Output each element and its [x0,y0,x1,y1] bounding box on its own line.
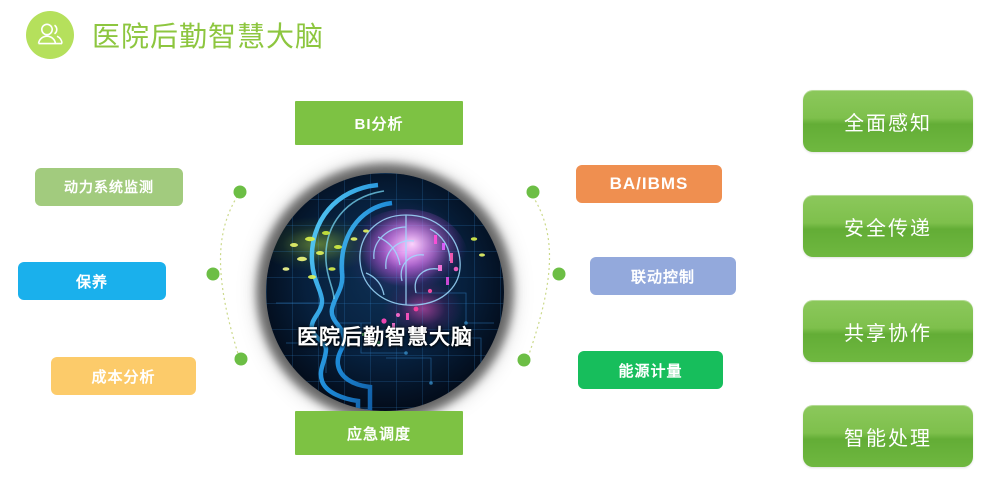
arc-dot-left-mid [207,268,220,281]
brain-head-illustration [266,173,504,411]
tag-bi-analysis[interactable]: BI分析 [295,101,463,145]
central-brain-graphic: 医院后勤智慧大脑 [266,173,504,411]
brain-center-label: 医院后勤智慧大脑 [266,321,504,351]
users-icon [26,11,74,59]
tag-emergency-dispatch[interactable]: 应急调度 [295,411,463,455]
tag-linkage-control[interactable]: 联动控制 [590,257,736,295]
brain-circle: 医院后勤智慧大脑 [266,173,504,411]
arc-dot-left-top [234,186,247,199]
tag-ba-ibms[interactable]: BA/IBMS [576,165,722,203]
page-header: 医院后勤智慧大脑 [26,11,324,59]
arc-right [527,192,550,360]
tag-maintenance[interactable]: 保养 [18,262,166,300]
arc-dot-right-top [527,186,540,199]
pill-secure-transmission[interactable]: 安全传递 [803,195,973,257]
pill-full-perception[interactable]: 全面感知 [803,90,973,152]
infographic-page: 医院后勤智慧大脑 [0,0,1000,503]
tag-cost-analysis[interactable]: 成本分析 [51,357,196,395]
tag-energy-metering[interactable]: 能源计量 [578,351,723,389]
pill-shared-collaboration[interactable]: 共享协作 [803,300,973,362]
arc-dot-right-mid [553,268,566,281]
tag-power-monitoring[interactable]: 动力系统监测 [35,168,183,206]
arc-left [220,192,240,360]
arc-dot-left-bottom [235,353,248,366]
page-title: 医院后勤智慧大脑 [92,15,324,55]
pill-intelligent-processing[interactable]: 智能处理 [803,405,973,467]
arc-dot-right-bottom [518,354,531,367]
